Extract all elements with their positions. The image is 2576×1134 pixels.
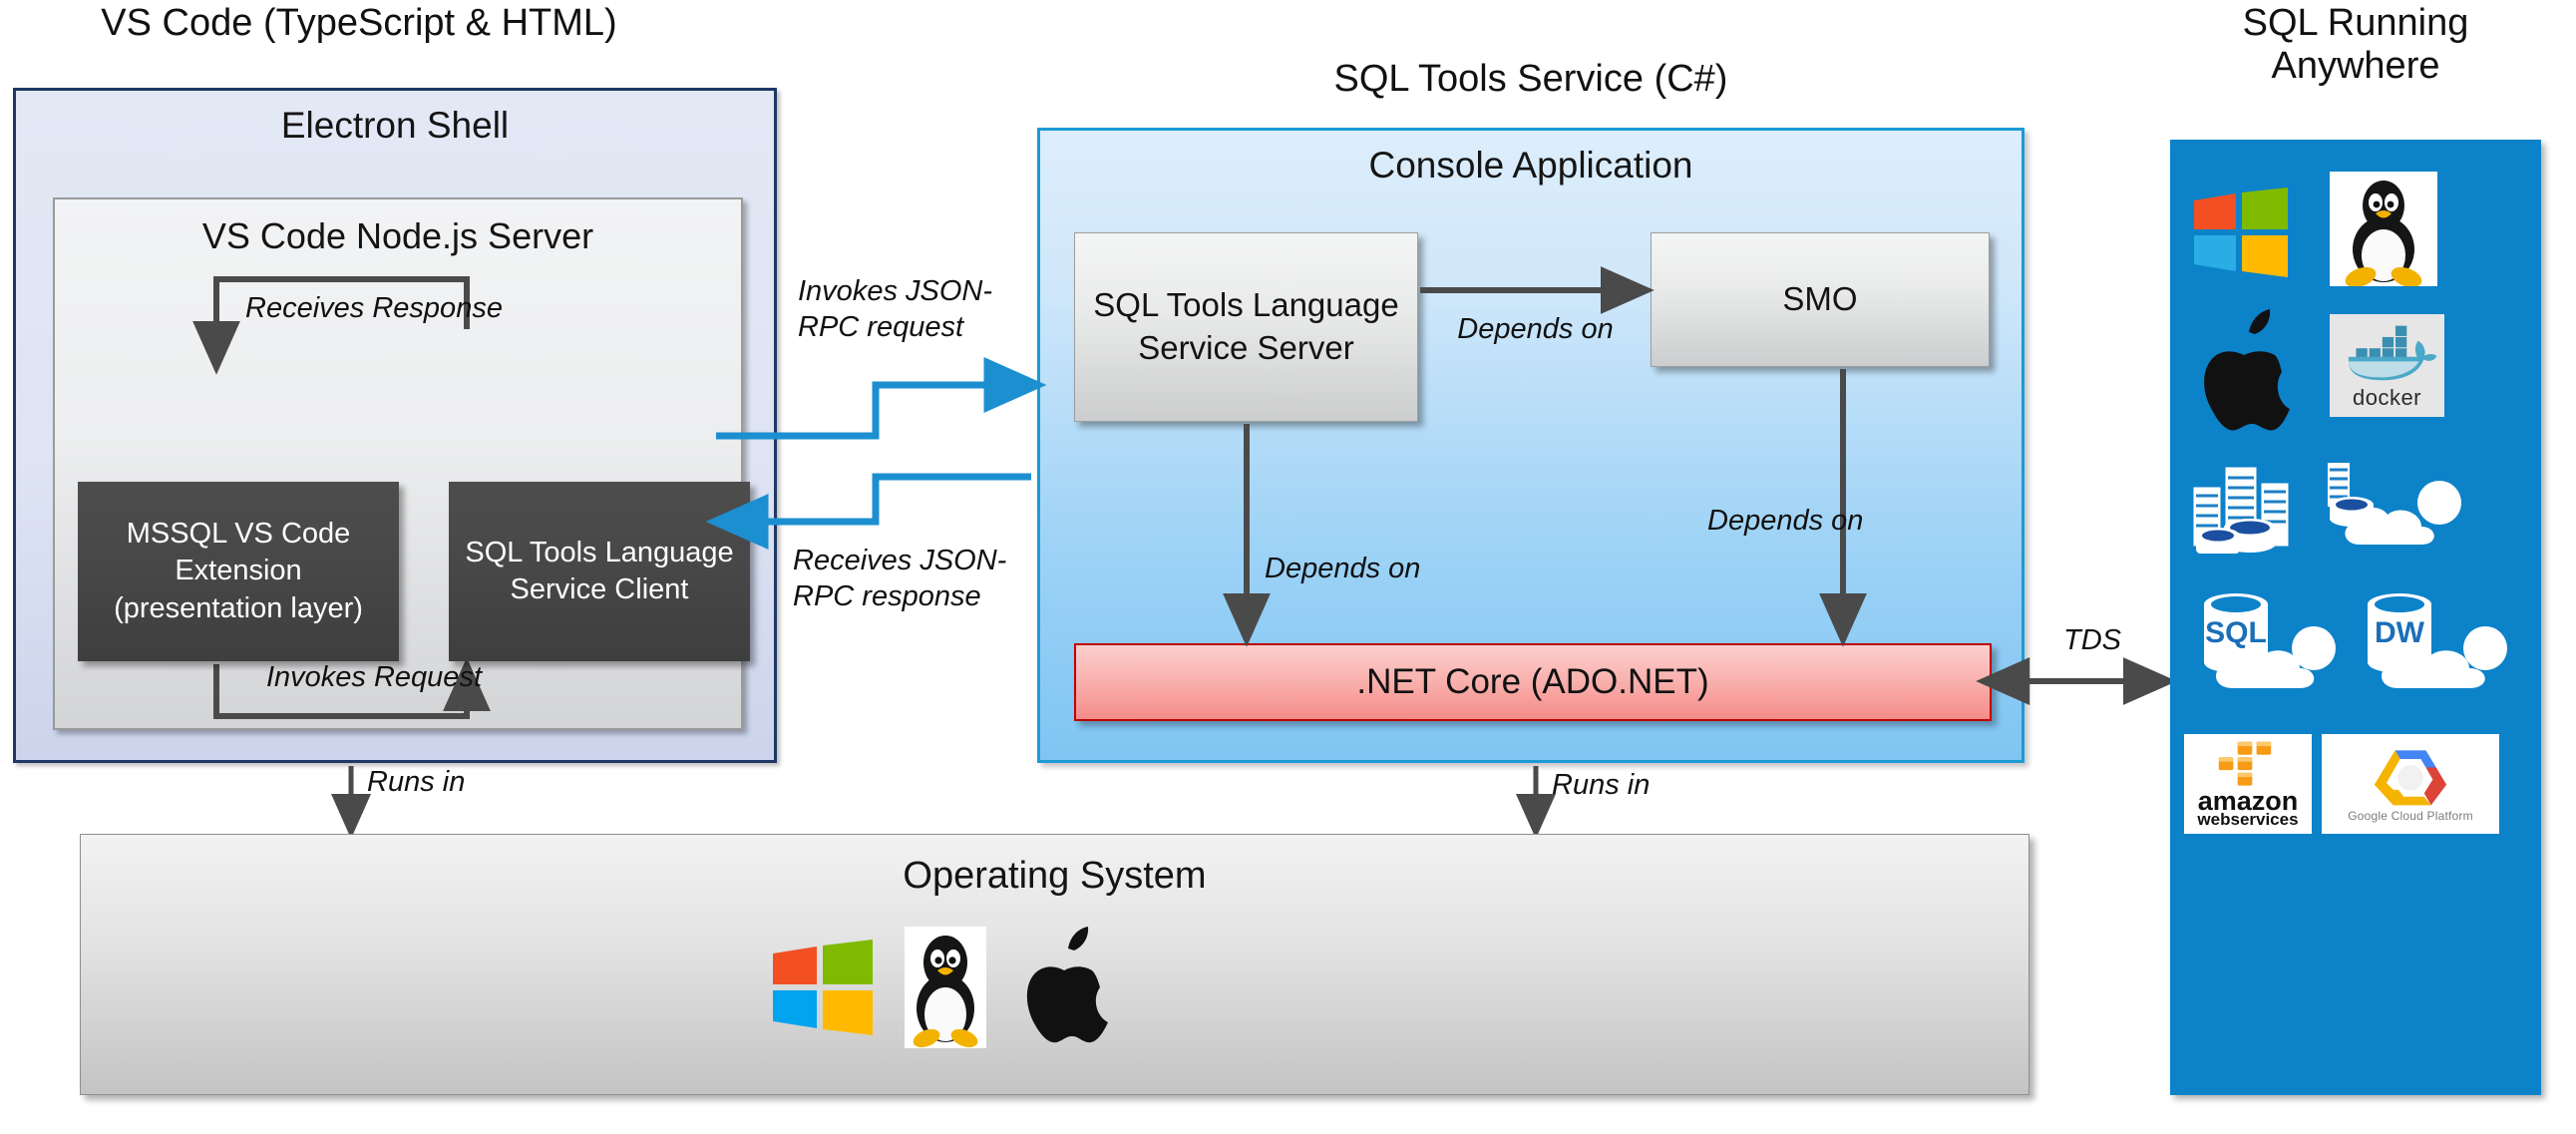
vscode-node-server-label: VS Code Node.js Server (55, 215, 741, 257)
dotnet-core-box[interactable]: .NET Core (ADO.NET) (1074, 643, 1992, 721)
on-premises-datacenter-icon (2188, 454, 2308, 554)
tds-label: TDS (2032, 623, 2152, 658)
windows-icon (769, 940, 877, 1035)
smo-depends-on-label: Depends on (1433, 312, 1638, 347)
sql-running-anywhere-title-line2: Anywhere (2170, 45, 2541, 88)
gcp-wordmark: Google Cloud Platform (2348, 809, 2473, 823)
receives-json-rpc-label-line2: RPC response (793, 579, 1042, 614)
apple-icon (2192, 309, 2297, 434)
sql-running-anywhere-panel: docker (2170, 140, 2541, 1095)
sql-tools-language-service-server-box[interactable]: SQL Tools Language Service Server (1074, 232, 1418, 422)
docker-icon: docker (2330, 314, 2444, 417)
sql-tools-language-service-client-box[interactable]: SQL Tools Language Service Client (449, 482, 750, 661)
sql-running-anywhere-title-line1: SQL Running (2170, 2, 2541, 45)
invokes-json-rpc-label-line1: Invokes JSON- (798, 274, 1027, 309)
invokes-json-rpc-label-line2: RPC request (798, 310, 1027, 345)
azure-sql-data-warehouse-icon: DW (2346, 586, 2530, 696)
smo-dotnet-depends-on-label: Depends on (1707, 504, 1937, 539)
sql-tools-service-title: SQL Tools Service (C#) (1037, 58, 2024, 101)
amazon-web-services-icon: amazon webservices (2184, 734, 2312, 834)
mssql-vscode-extension-box[interactable]: MSSQL VS Code Extension (presentation la… (78, 482, 399, 661)
svg-text:SQL: SQL (2205, 616, 2267, 649)
electron-shell-label: Electron Shell (16, 105, 774, 147)
sql-tools-language-service-client-label: SQL Tools Language Service Client (459, 535, 740, 608)
runs-in-service-label: Runs in (1552, 768, 1771, 803)
linux-tux-icon (905, 927, 986, 1048)
smo-label: SMO (1782, 278, 1857, 321)
receives-response-label: Receives Response (234, 291, 514, 326)
server-depends-on-label: Depends on (1265, 552, 1494, 586)
docker-label: docker (2353, 385, 2421, 411)
azure-sql-database-icon: SQL (2184, 586, 2354, 696)
electron-shell-panel: Electron Shell VS Code Node.js Server Re… (13, 88, 777, 763)
aws-wordmark-line2: webservices (2197, 813, 2298, 828)
svg-text:DW: DW (2375, 616, 2425, 649)
operating-system-panel: Operating System (80, 834, 2029, 1095)
runs-in-vscode-label: Runs in (367, 765, 586, 800)
linux-tux-icon (2330, 172, 2437, 286)
dotnet-core-label: .NET Core (ADO.NET) (1356, 662, 1708, 702)
mssql-vscode-extension-label: MSSQL VS Code Extension (presentation la… (88, 516, 389, 626)
invokes-request-label: Invokes Request (234, 660, 514, 695)
private-cloud-icon (2322, 457, 2471, 557)
sql-tools-language-service-server-label: SQL Tools Language Service Server (1075, 284, 1417, 370)
smo-box[interactable]: SMO (1651, 232, 1990, 367)
console-application-label: Console Application (1040, 145, 2022, 187)
receives-json-rpc-label-line1: Receives JSON- (793, 544, 1042, 578)
windows-icon (2192, 188, 2292, 277)
vscode-panel-title: VS Code (TypeScript & HTML) (0, 2, 718, 45)
operating-system-label: Operating System (81, 855, 2028, 898)
apple-icon (1016, 927, 1112, 1046)
google-cloud-platform-icon: Google Cloud Platform (2322, 734, 2499, 834)
